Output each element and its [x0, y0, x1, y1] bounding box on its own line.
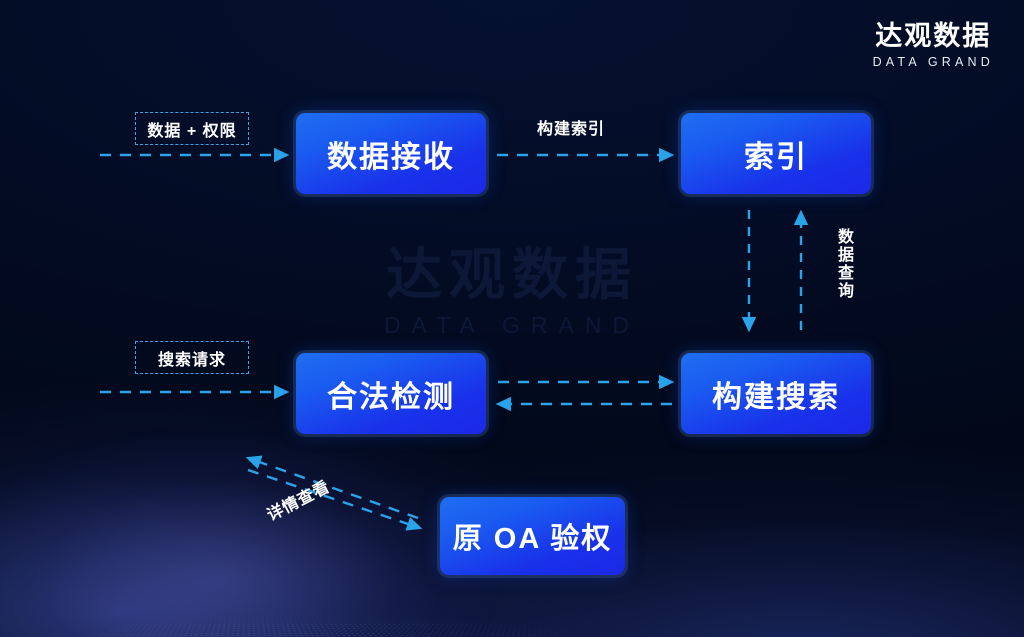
decorative-glow: [0, 427, 500, 637]
label-data-query: 数据查询: [828, 228, 854, 300]
node-index-label: 索引: [744, 132, 808, 176]
brand-logo: 达观数据 DATA GRAND: [873, 22, 994, 69]
label-detail-view: 详情查看: [262, 473, 333, 525]
node-oa-auth-label: 原 OA 验权: [453, 515, 613, 557]
node-data-receive[interactable]: 数据接收: [296, 113, 486, 194]
tag-data-permission: 数据 + 权限: [135, 112, 249, 145]
watermark-cn: 达观数据: [0, 244, 1024, 306]
tag-search-request-label: 搜索请求: [158, 346, 226, 370]
wave-layer-1: [0, 602, 1024, 637]
wave-layer-2: [0, 626, 1024, 637]
tag-data-permission-label: 数据 + 权限: [147, 117, 236, 141]
node-legality-check[interactable]: 合法检测: [296, 353, 486, 434]
node-oa-auth[interactable]: 原 OA 验权: [440, 497, 625, 575]
brand-logo-cn: 达观数据: [873, 22, 994, 50]
label-build-index: 构建索引: [537, 115, 605, 139]
brand-logo-en: DATA GRAND: [873, 55, 994, 69]
node-data-receive-label: 数据接收: [327, 132, 455, 176]
wave-layer-3: [0, 619, 1024, 637]
watermark-en: DATA GRAND: [0, 312, 1024, 339]
tag-search-request: 搜索请求: [135, 341, 249, 374]
center-watermark: 达观数据 DATA GRAND: [0, 244, 1024, 339]
node-index[interactable]: 索引: [681, 113, 871, 194]
node-legality-check-label: 合法检测: [327, 372, 455, 416]
node-build-search-label: 构建搜索: [712, 372, 840, 416]
node-build-search[interactable]: 构建搜索: [681, 353, 871, 434]
slide-canvas: 达观数据 DATA GRAND 达观数据 DATA GRAND: [0, 0, 1024, 637]
